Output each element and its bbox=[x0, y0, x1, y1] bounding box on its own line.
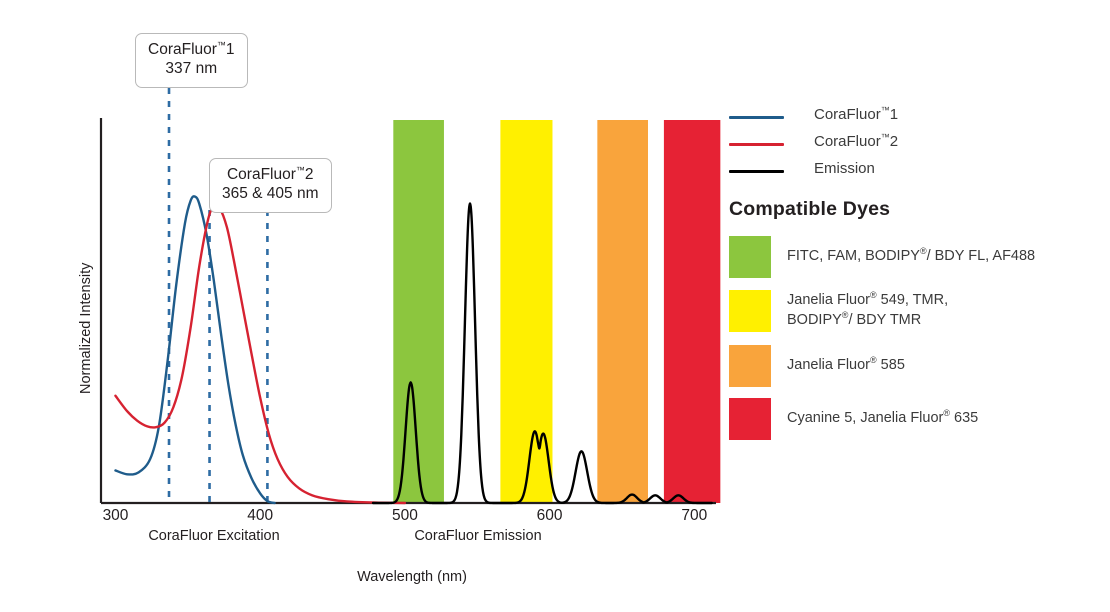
dye-band-group bbox=[393, 120, 720, 503]
callout-corafluor2: CoraFluor™2 365 & 405 nm bbox=[209, 158, 332, 213]
dye-band-red bbox=[664, 120, 720, 503]
dye-row[interactable]: FITC, FAM, BODIPY®/ BDY FL, AF488 bbox=[729, 236, 1104, 282]
dye-color-swatch bbox=[729, 398, 771, 440]
curve-excitation-2 bbox=[115, 205, 404, 503]
legend-label-emission: Emission bbox=[814, 160, 875, 177]
x-tick-300: 300 bbox=[103, 507, 129, 525]
callout-2-line1: CoraFluor™2 bbox=[222, 166, 319, 185]
legend-item-emission[interactable]: Emission bbox=[729, 158, 1104, 185]
legend-label-corafluor1: CoraFluor™1 bbox=[814, 106, 898, 123]
x-tick-500: 500 bbox=[392, 507, 418, 525]
dye-row[interactable]: Cyanine 5, Janelia Fluor® 635 bbox=[729, 398, 1104, 444]
x-tick-600: 600 bbox=[537, 507, 563, 525]
dye-label: Janelia Fluor® 549, TMR,BODIPY®/ BDY TMR bbox=[787, 291, 948, 330]
dye-color-swatch bbox=[729, 345, 771, 387]
x-tick-400: 400 bbox=[247, 507, 273, 525]
legend-line-swatch-emission bbox=[729, 170, 784, 173]
dye-label: Janelia Fluor® 585 bbox=[787, 356, 905, 376]
dye-band-green bbox=[393, 120, 444, 503]
dye-row[interactable]: Janelia Fluor® 549, TMR,BODIPY®/ BDY TMR bbox=[729, 290, 1104, 336]
legend-line-swatch-corafluor2 bbox=[729, 143, 784, 146]
y-axis-label: Normalized Intensity bbox=[78, 263, 94, 394]
dye-band-orange bbox=[597, 120, 648, 503]
dye-band-yellow bbox=[500, 120, 552, 503]
callout-1-line1: CoraFluor™1 bbox=[148, 41, 235, 60]
legend-label-corafluor2: CoraFluor™2 bbox=[814, 133, 898, 150]
legend-line-swatch-corafluor1 bbox=[729, 116, 784, 119]
legend-item-corafluor2[interactable]: CoraFluor™2 bbox=[729, 131, 1104, 158]
excitation-marker-group bbox=[169, 88, 267, 503]
dye-row[interactable]: Janelia Fluor® 585 bbox=[729, 345, 1104, 391]
x-axis-label: Wavelength (nm) bbox=[357, 569, 467, 585]
dye-label: Cyanine 5, Janelia Fluor® 635 bbox=[787, 409, 978, 429]
series-legend: CoraFluor™1 CoraFluor™2 Emission bbox=[729, 104, 1104, 185]
emission-region-label: CoraFluor Emission bbox=[414, 528, 541, 544]
callout-1-line2: 337 nm bbox=[148, 60, 235, 79]
callout-corafluor1: CoraFluor™1 337 nm bbox=[135, 33, 248, 88]
dye-color-swatch bbox=[729, 236, 771, 278]
callout-2-line2: 365 & 405 nm bbox=[222, 185, 319, 204]
spectral-chart: CoraFluor™1 337 nm CoraFluor™2 365 & 405… bbox=[0, 0, 1110, 612]
dye-label: FITC, FAM, BODIPY®/ BDY FL, AF488 bbox=[787, 247, 1035, 267]
legend-item-corafluor1[interactable]: CoraFluor™1 bbox=[729, 104, 1104, 131]
compatible-dyes-title: Compatible Dyes bbox=[729, 198, 890, 221]
dye-color-swatch bbox=[729, 290, 771, 332]
excitation-region-label: CoraFluor Excitation bbox=[148, 528, 279, 544]
x-tick-700: 700 bbox=[681, 507, 707, 525]
